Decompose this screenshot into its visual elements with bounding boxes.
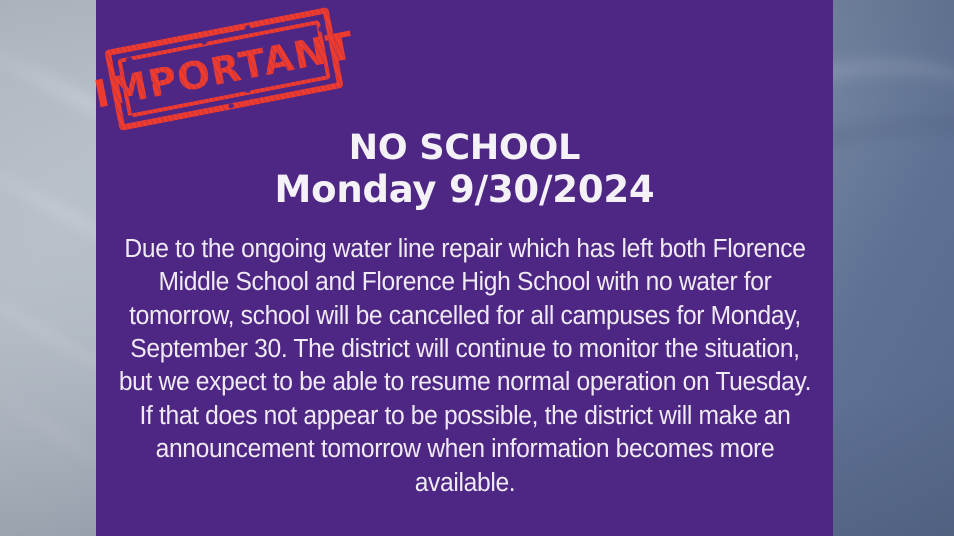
important-stamp-icon: IMPORTANT — [104, 7, 343, 131]
announcement-panel: IMPORTANT NO SCHOOL Monday 9/30/2024 Due… — [96, 0, 833, 536]
headline-primary: NO SCHOOL — [275, 130, 655, 166]
announcement-heading: NO SCHOOL Monday 9/30/2024 — [275, 130, 655, 214]
announcement-body-text: Due to the ongoing water line repair whi… — [115, 233, 814, 500]
headline-date: Monday 9/30/2024 — [275, 166, 655, 213]
announcement-screen: IMPORTANT NO SCHOOL Monday 9/30/2024 Due… — [0, 0, 954, 536]
